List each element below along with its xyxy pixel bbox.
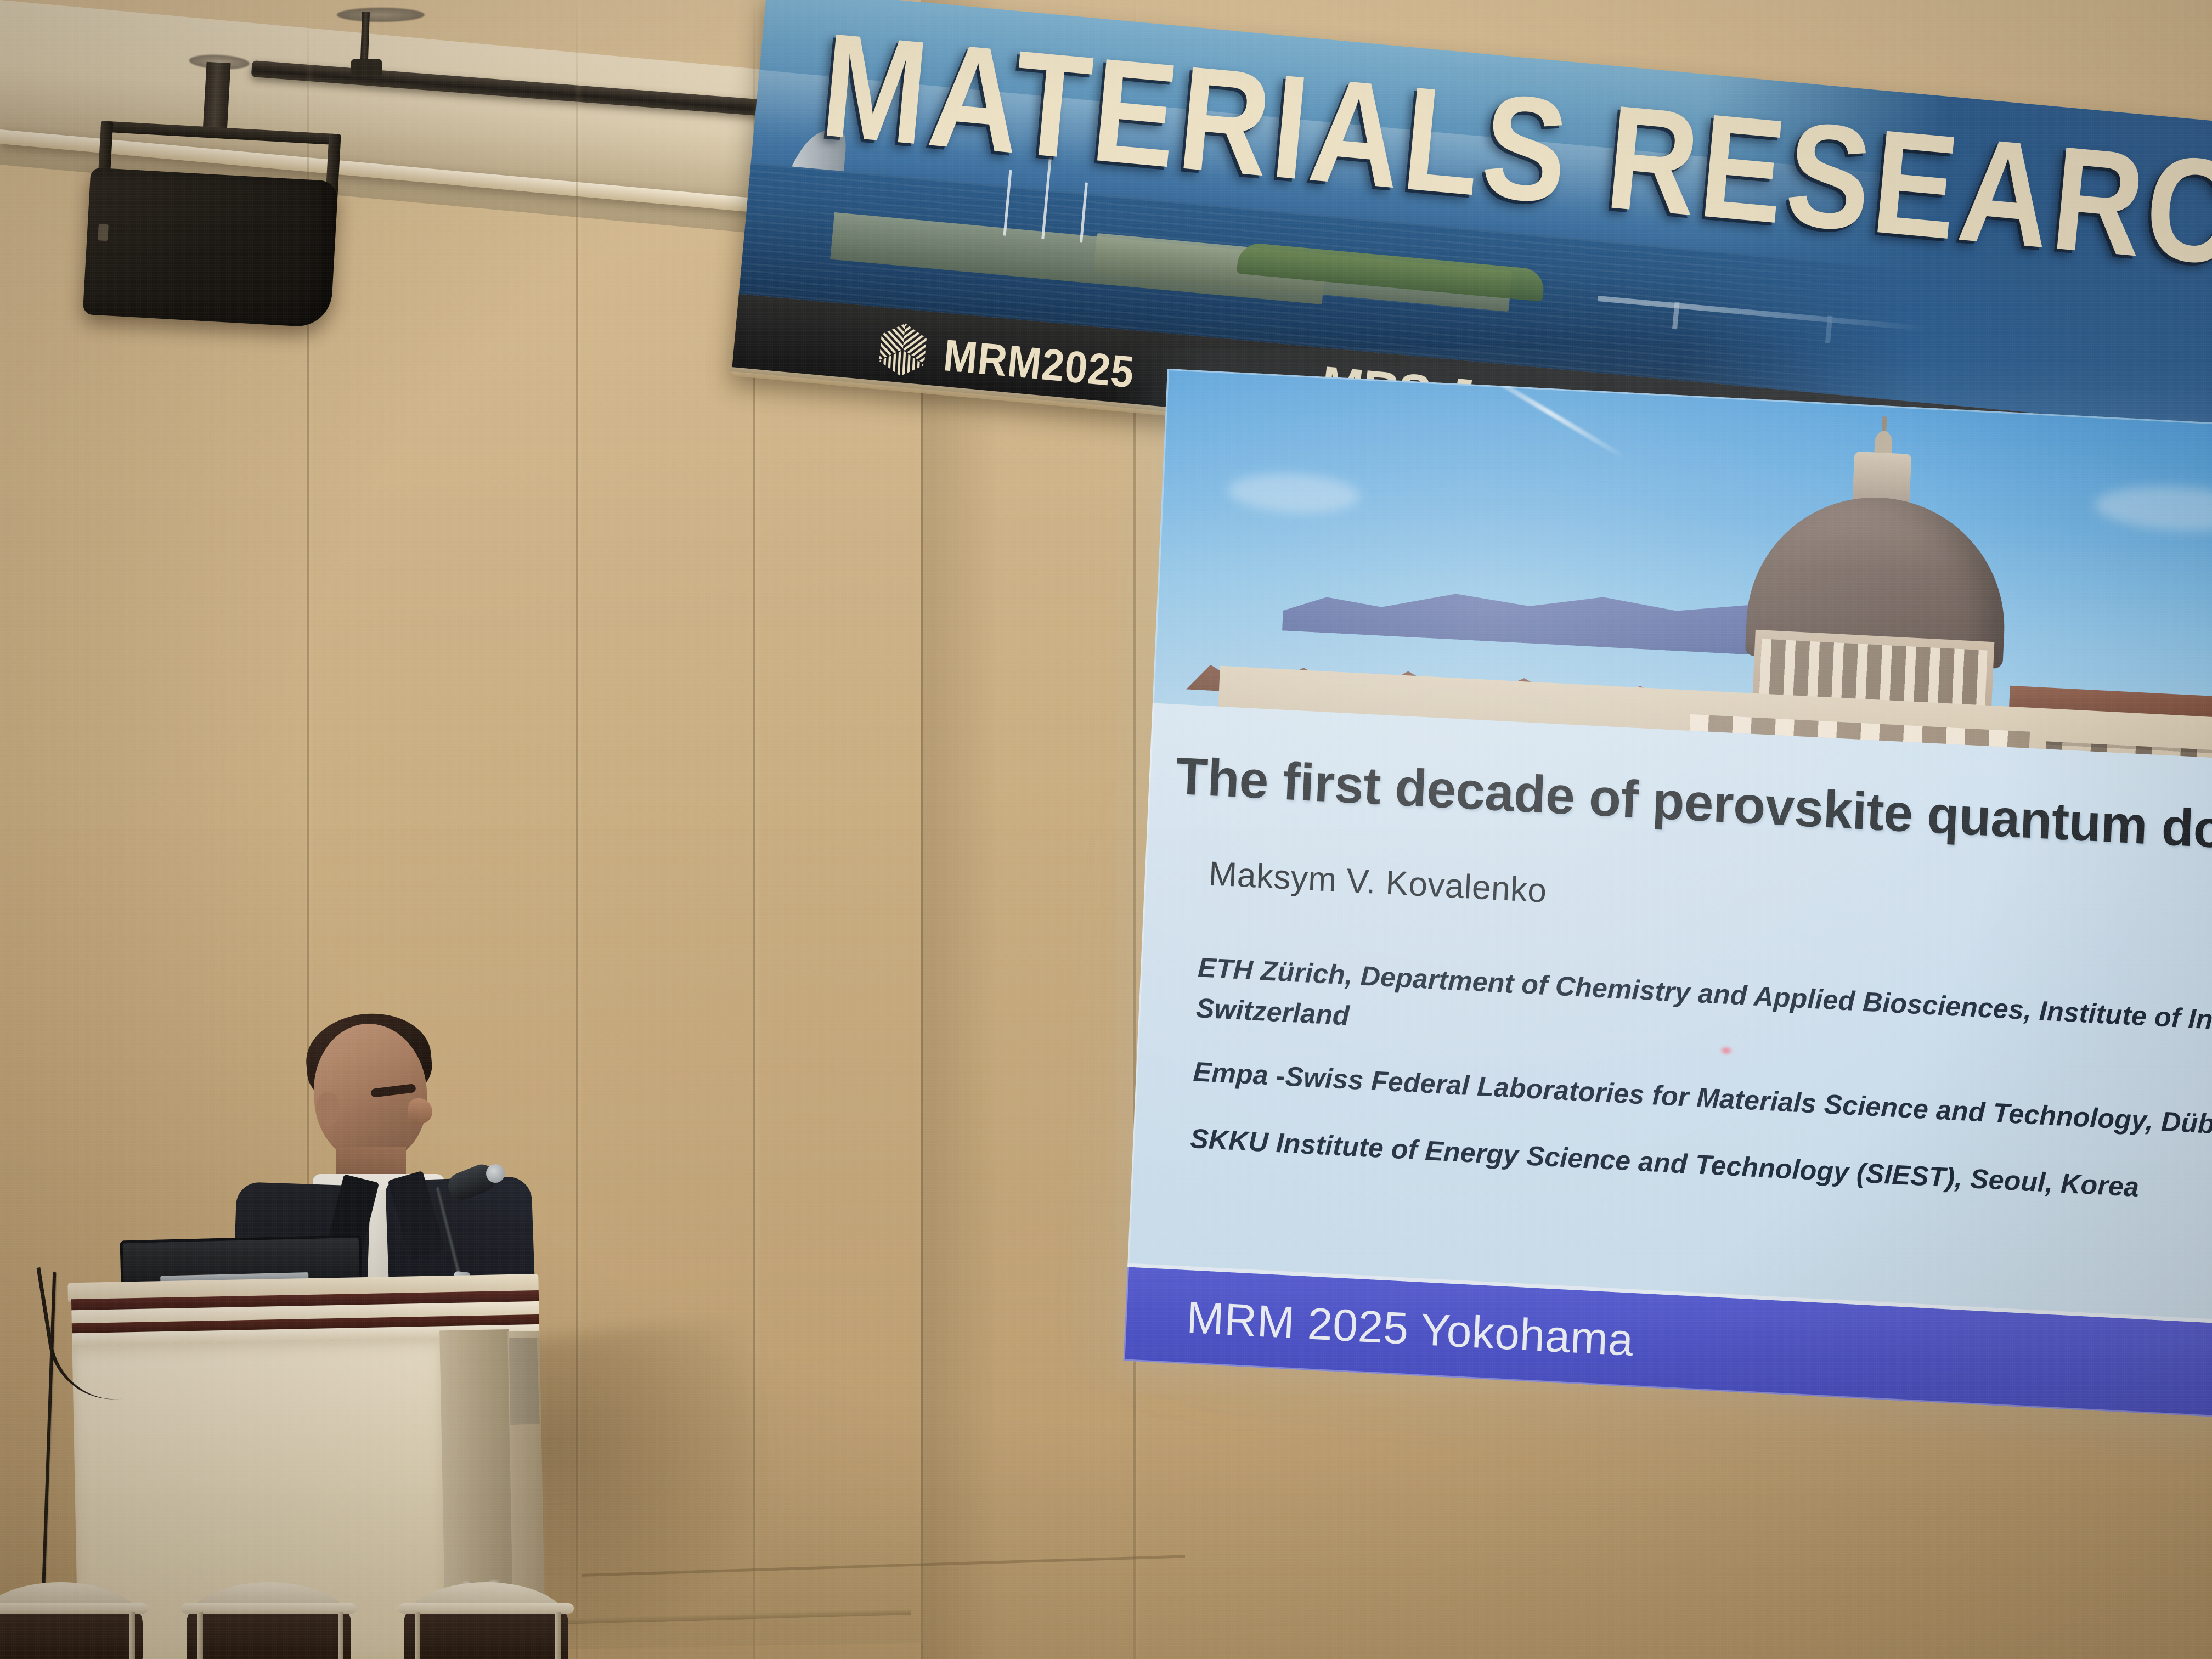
chair-backrest (404, 1582, 568, 1659)
dome-lantern (1852, 452, 1911, 505)
chair-leg (338, 1612, 343, 1659)
slide-title: The first decade of perovskite quantum d… (1175, 746, 2212, 868)
mrm2025-wordmark: MRM2025 (941, 329, 1136, 398)
speaker-mount-post (202, 62, 230, 134)
speaker-cabinet (83, 167, 338, 328)
mrm2025-hexagon-logo (873, 319, 932, 381)
laser-pointer-dot (1719, 1045, 1734, 1056)
chair-leg (129, 1612, 135, 1659)
slide-affiliation: Switzerland (1195, 992, 1350, 1031)
projected-slide: The first decade of perovskite quantum d… (1123, 369, 2212, 1422)
microphone-windscreen (486, 1164, 505, 1183)
speaker-indicator-led (98, 224, 109, 241)
ceiling-mount-plate (337, 8, 425, 22)
chair-top-rail (0, 1603, 148, 1614)
slide-footer-text: MRM 2025 Yokohama (1186, 1292, 1634, 1367)
slide-author: Maksym V. Kovalenko (1208, 854, 1548, 911)
slide-affiliation: SKKU Institute of Energy Science and Tec… (1189, 1122, 2140, 1203)
conference-hall-photo: MATERIALS RESEARCH (0, 0, 2212, 1659)
cloud (1227, 471, 1361, 516)
chair-leg (415, 1612, 420, 1659)
presenter-nose (408, 1098, 432, 1124)
chair-leg (198, 1612, 203, 1659)
eth-zurich-photo (1153, 369, 2212, 765)
chair-top-rail (398, 1603, 574, 1614)
cloud (2094, 482, 2212, 534)
chair-top-rail (181, 1603, 357, 1614)
ceiling-speaker (82, 120, 345, 331)
rail-clamp (351, 59, 382, 77)
presenter-ear (316, 1092, 340, 1126)
chair-leg (555, 1612, 561, 1659)
chair-backrest (187, 1582, 351, 1659)
